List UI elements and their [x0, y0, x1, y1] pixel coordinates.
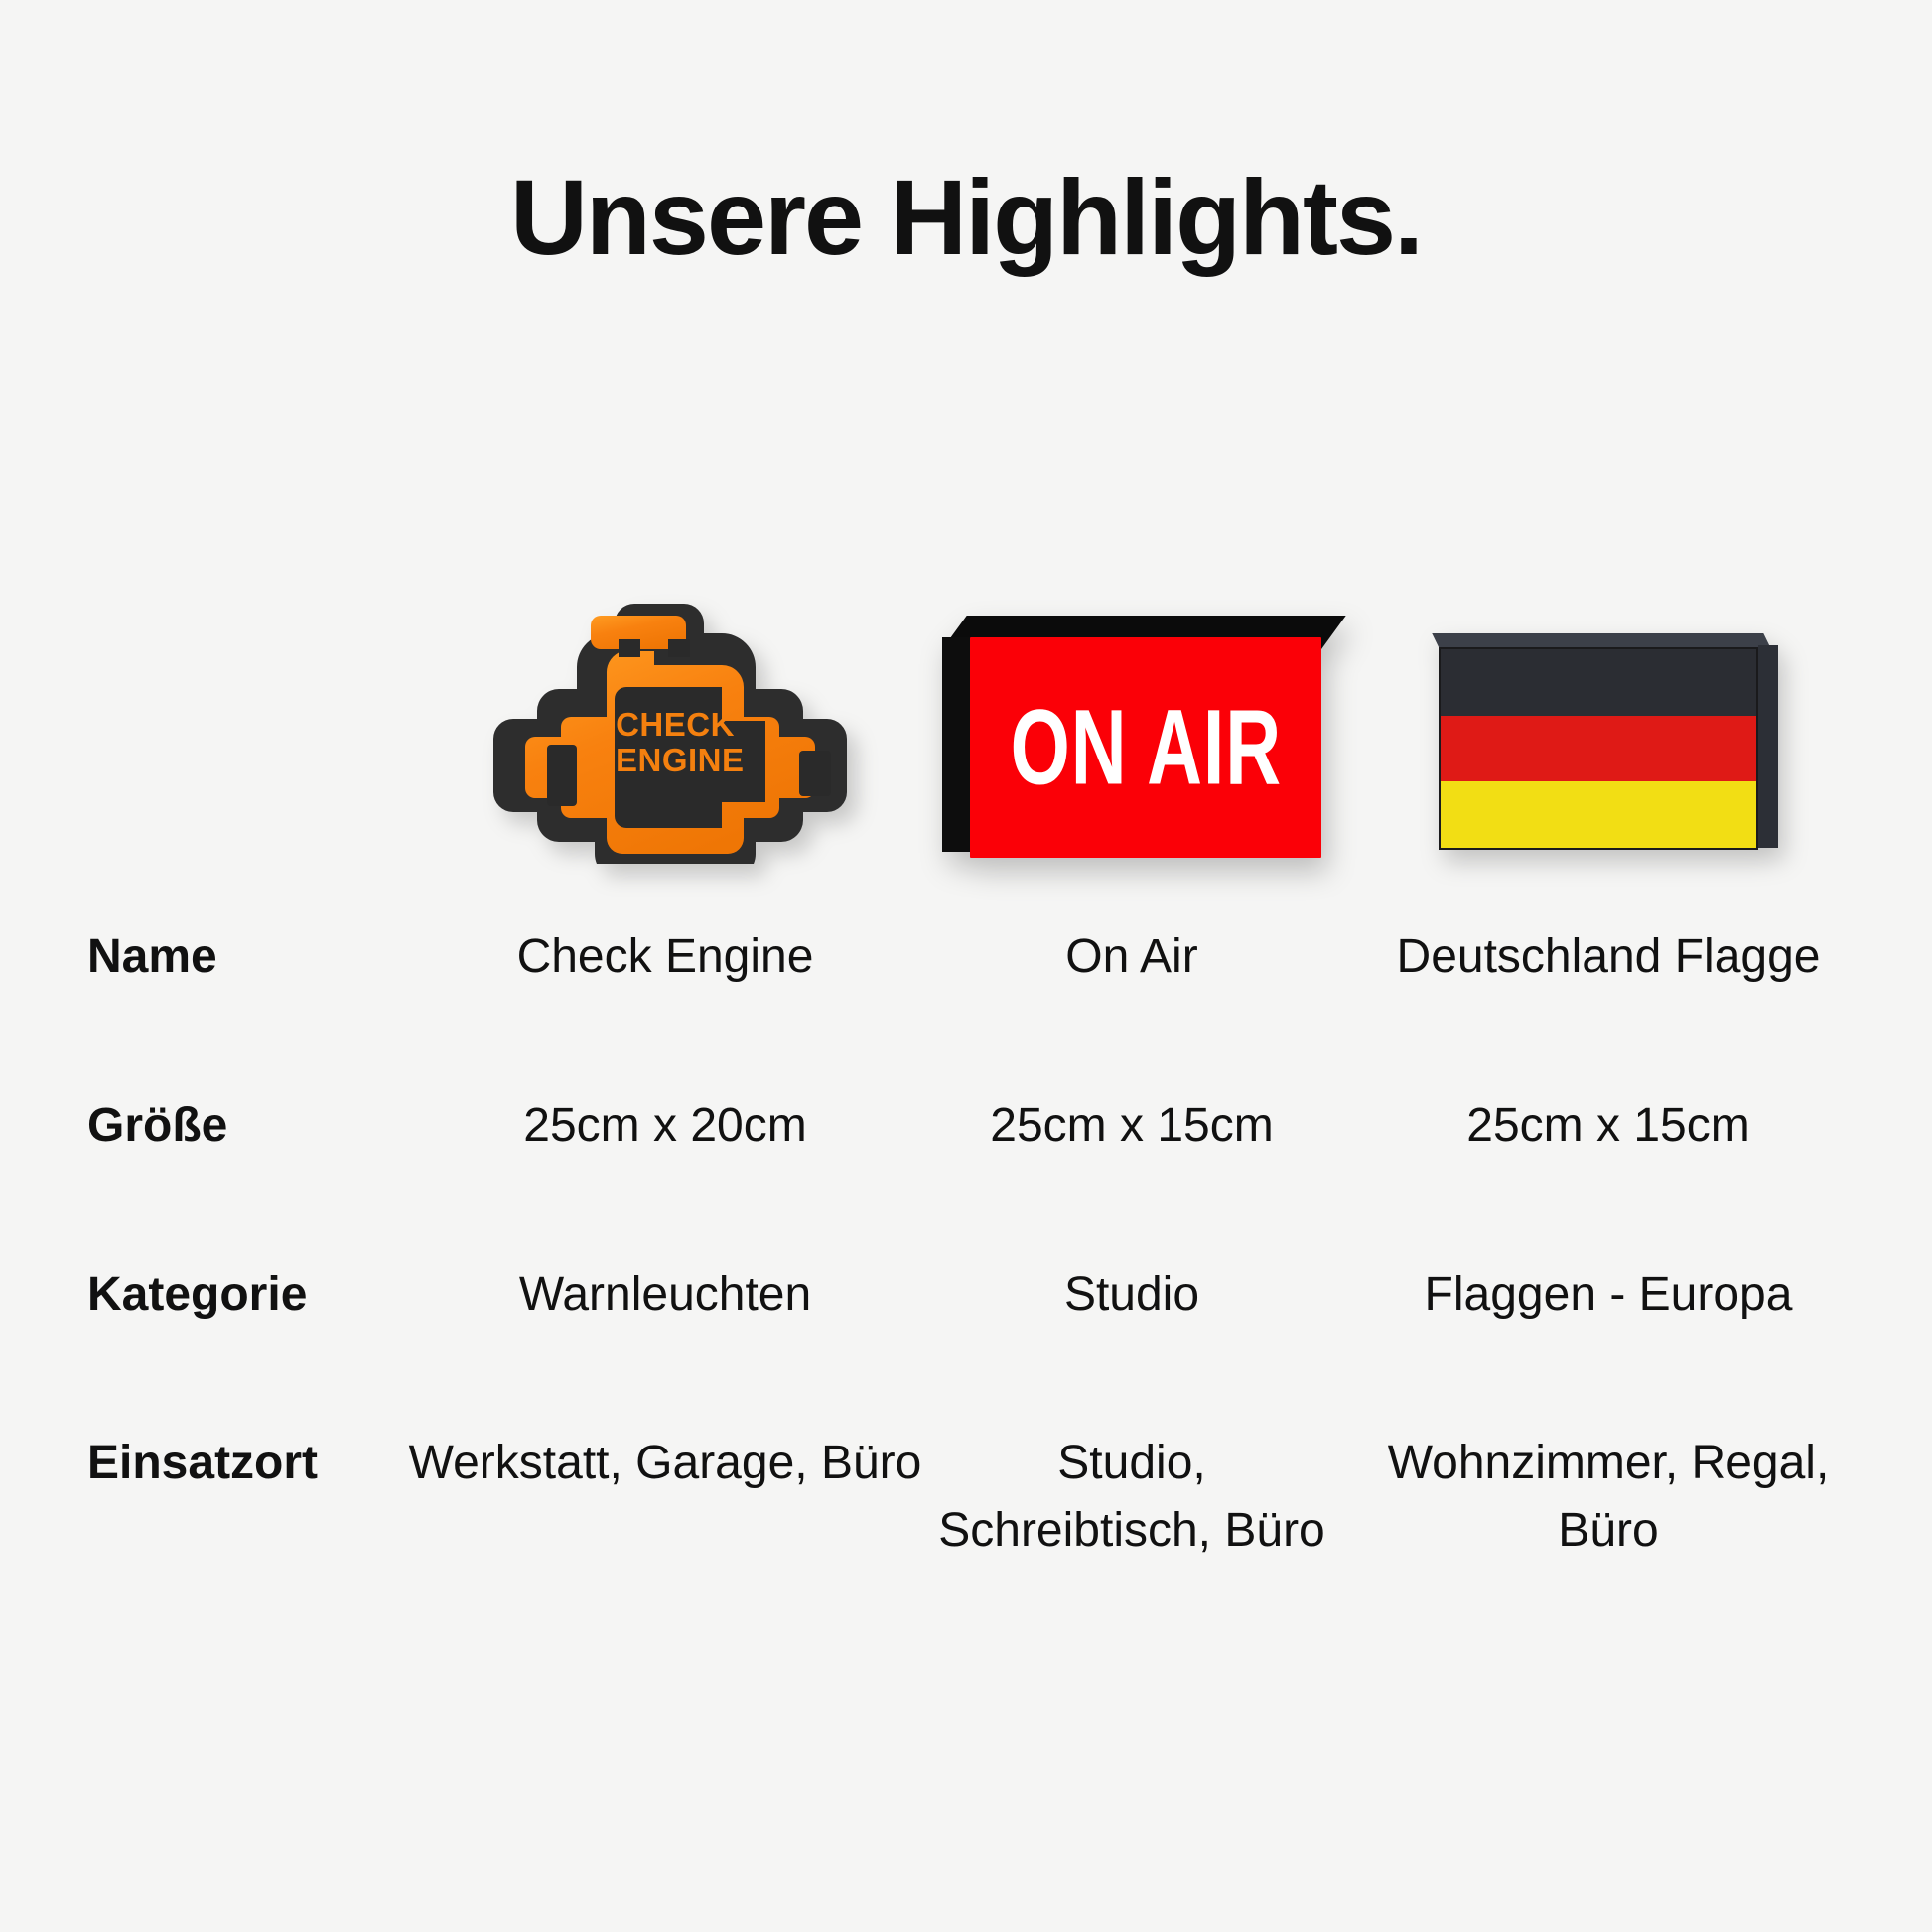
product-image-row: CHECK ENGINE ON AIR [0, 536, 1932, 864]
spec-table: Name Check Engine On Air Deutschland Fla… [0, 923, 1932, 1658]
flag-band-red [1441, 716, 1756, 782]
cell-name-deutschland-flagge: Deutschland Flagge [1340, 923, 1876, 991]
flag-band-black [1441, 649, 1756, 716]
cell-einsatzort-on-air: Studio, Schreibtisch, Büro [923, 1430, 1340, 1565]
flag-band-yellow [1441, 781, 1756, 848]
row-label-groesse: Größe [87, 1092, 405, 1160]
row-label-einsatzort: Einsatzort [87, 1430, 405, 1497]
product-image-deutschland-flagge[interactable] [1360, 536, 1857, 864]
product-image-on-air[interactable]: ON AIR [874, 536, 1390, 864]
check-engine-lamp-icon: CHECK ENGINE [472, 596, 859, 864]
table-row: Kategorie Warnleuchten Studio Flaggen - … [0, 1261, 1932, 1430]
table-row: Einsatzort Werkstatt, Garage, Büro Studi… [0, 1430, 1932, 1658]
cell-groesse-on-air: 25cm x 15cm [923, 1092, 1340, 1160]
cell-einsatzort-check-engine: Werkstatt, Garage, Büro [397, 1430, 933, 1497]
row-label-name: Name [87, 923, 405, 991]
row-label-kategorie: Kategorie [87, 1261, 405, 1328]
flag-side-face [1758, 645, 1778, 848]
cell-kategorie-on-air: Studio [923, 1261, 1340, 1328]
check-engine-face-text: CHECK ENGINE [616, 707, 735, 777]
page-title: Unsere Highlights. [0, 159, 1932, 277]
table-row: Name Check Engine On Air Deutschland Fla… [0, 923, 1932, 1092]
on-air-lightbox: ON AIR [942, 616, 1321, 864]
cell-kategorie-check-engine: Warnleuchten [397, 1261, 933, 1328]
germany-flag-lightbox [1439, 633, 1778, 864]
table-row: Größe 25cm x 20cm 25cm x 15cm 25cm x 15c… [0, 1092, 1932, 1261]
flag-front-face [1439, 647, 1758, 850]
cell-groesse-deutschland-flagge: 25cm x 15cm [1340, 1092, 1876, 1160]
on-air-front-face: ON AIR [970, 637, 1321, 858]
on-air-face-text: ON AIR [1010, 686, 1281, 809]
highlights-page: Unsere Highlights. [0, 0, 1932, 1932]
cell-name-on-air: On Air [923, 923, 1340, 991]
cell-kategorie-deutschland-flagge: Flaggen - Europa [1340, 1261, 1876, 1328]
on-air-side-face [942, 637, 972, 852]
cell-einsatzort-deutschland-flagge: Wohnzimmer, Regal, Büro [1340, 1430, 1876, 1565]
cell-groesse-check-engine: 25cm x 20cm [397, 1092, 933, 1160]
cell-name-check-engine: Check Engine [397, 923, 933, 991]
